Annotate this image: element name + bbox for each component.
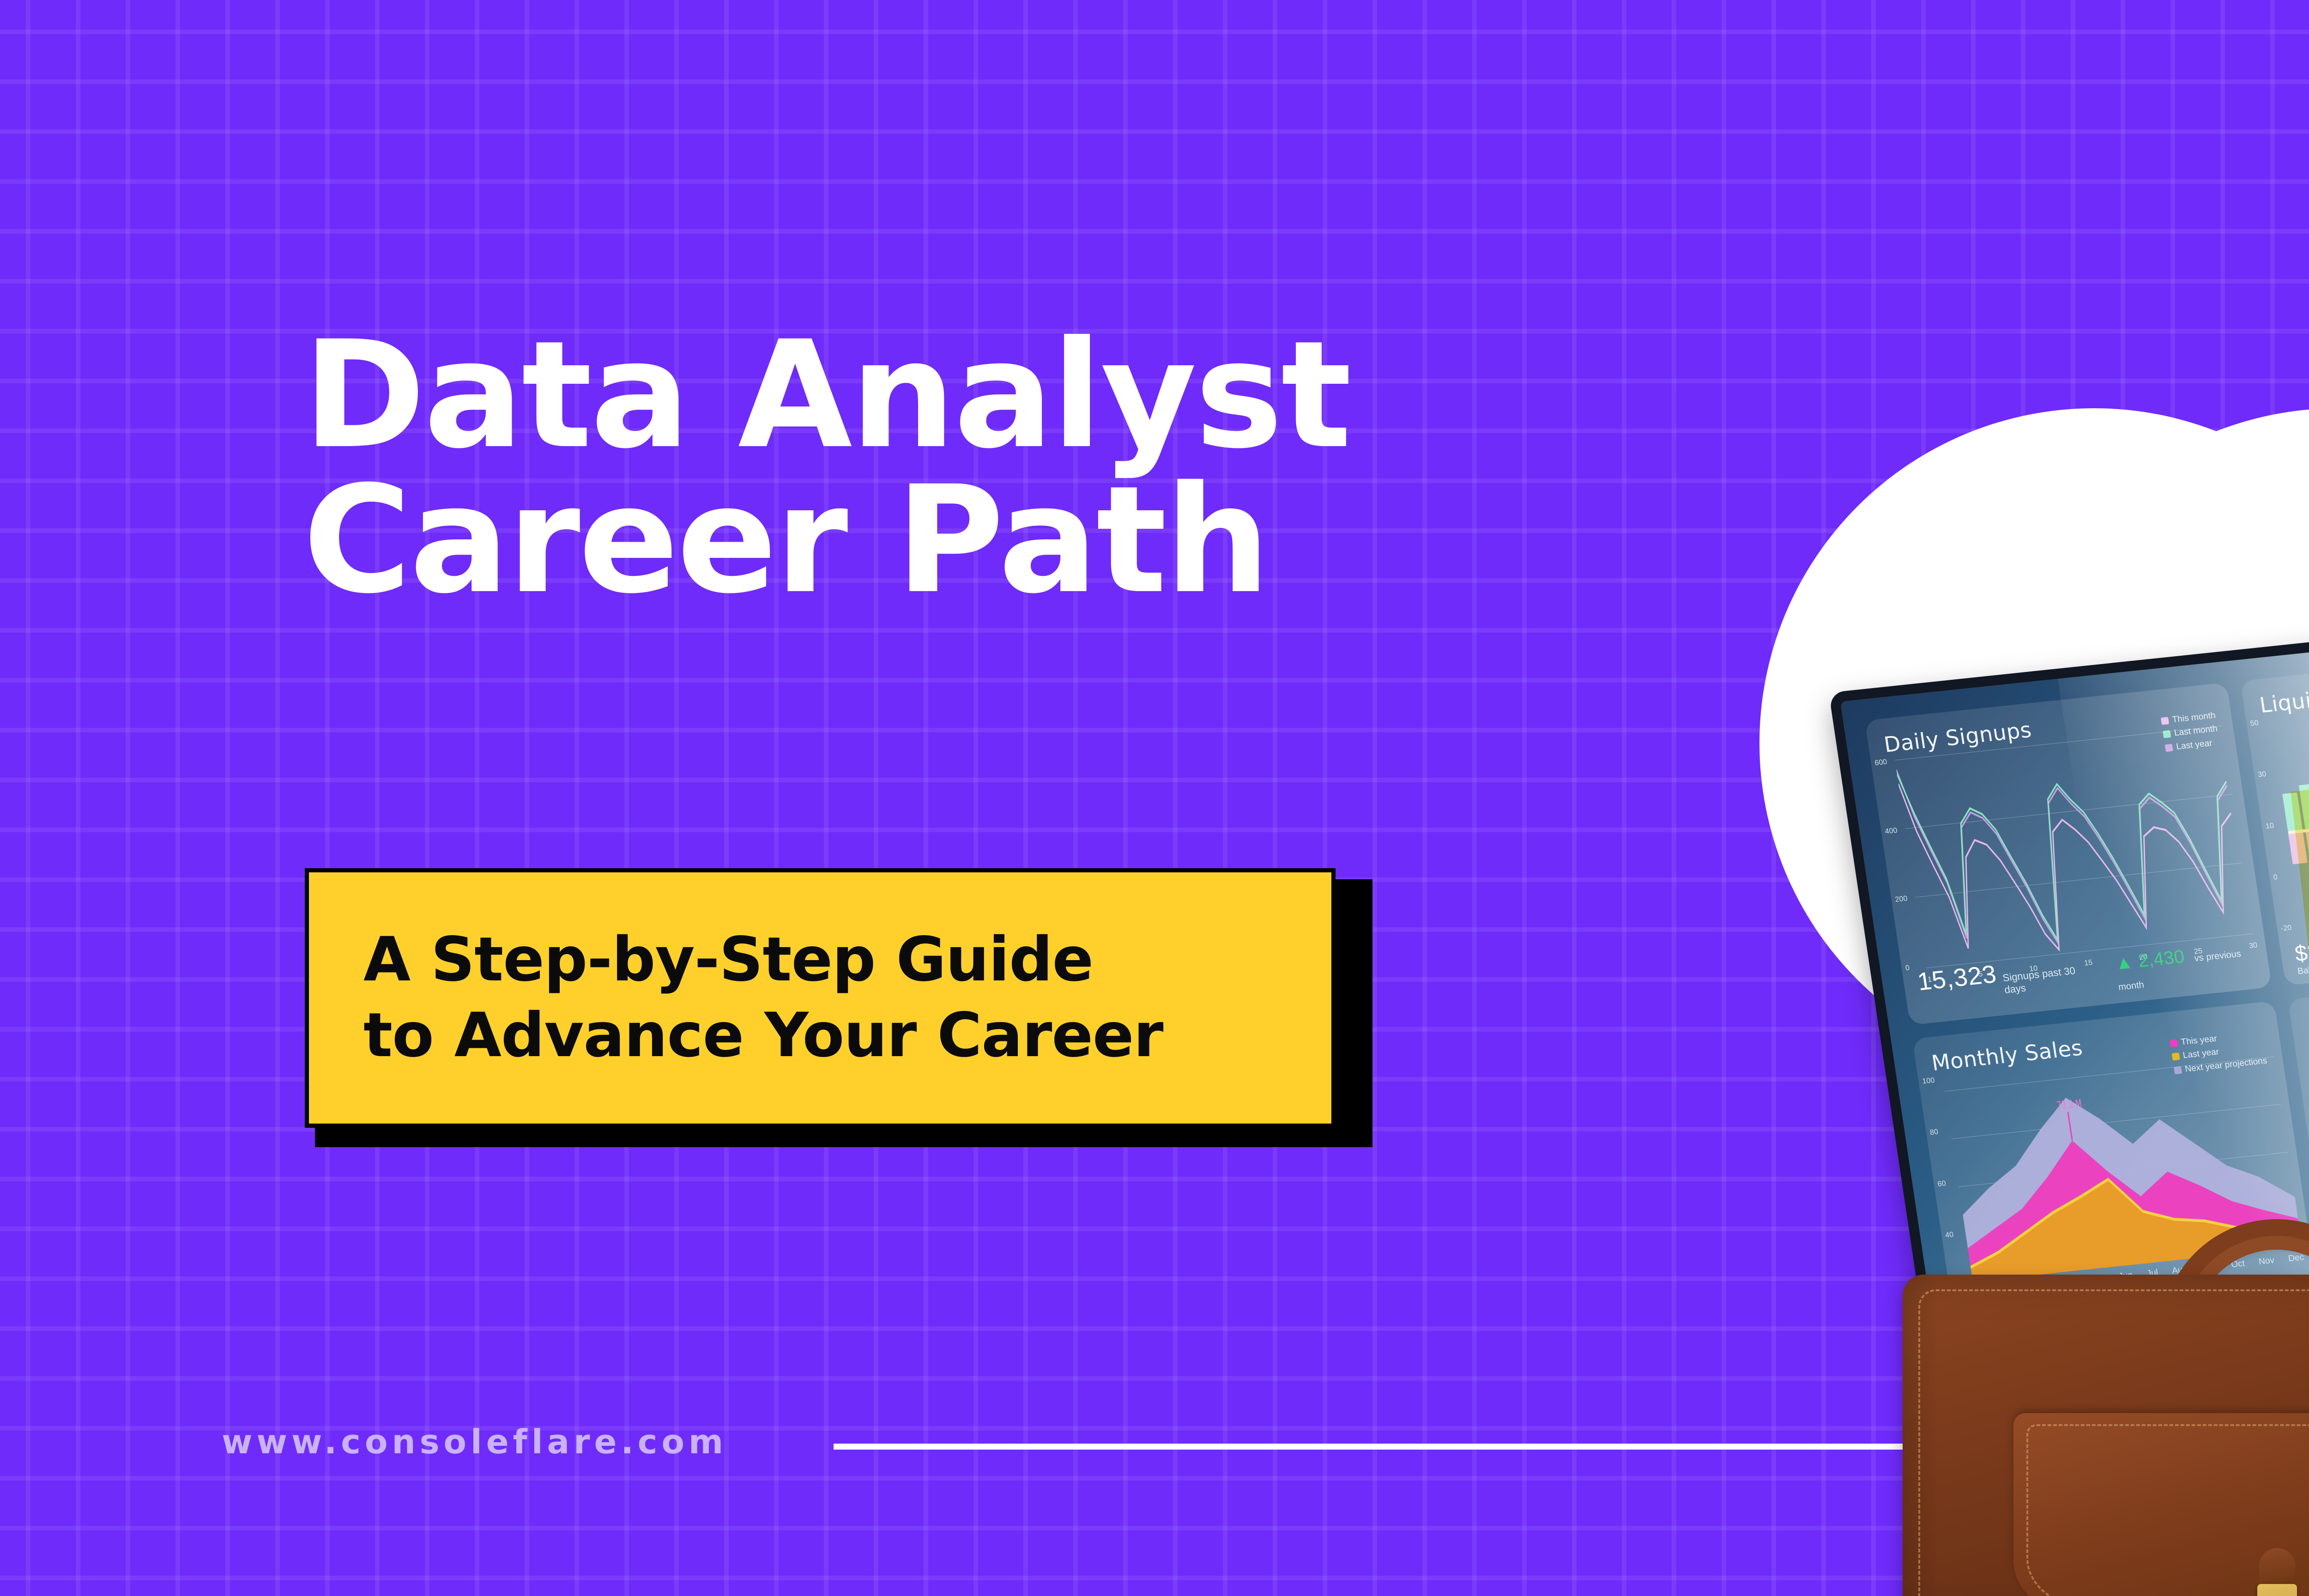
daily-signups-lines (1895, 725, 2254, 968)
legend-swatch (2170, 1039, 2178, 1047)
plot-daily-signups (1895, 725, 2254, 968)
y-tick: 400 (1885, 827, 1898, 836)
stat-value: $25.9M (2293, 934, 2309, 966)
y-tick: 600 (1874, 758, 1887, 768)
plaque-box: A Step-by-Step Guide to Advance Your Car… (305, 868, 1336, 1128)
briefcase-lock-clasp (2257, 1584, 2297, 1596)
kpi-delta-arrow-icon: ▲ (2113, 952, 2134, 974)
subtitle-plaque: A Step-by-Step Guide to Advance Your Car… (305, 868, 1367, 1145)
y-tick: -20 (2280, 924, 2292, 933)
page-title: Data Analyst Career Path (303, 323, 1965, 613)
svg-text:73.2 M: 73.2 M (2056, 1097, 2082, 1112)
y-tick: 200 (1895, 895, 1908, 905)
poster-canvas: console flare. Data Analyst Career Path … (0, 0, 2309, 1596)
kpi-delta: ▲ 2,430 vs previous month (2113, 938, 2271, 995)
y-tick: 0 (2273, 873, 2285, 882)
plaque-line-2: to Advance Your Career (363, 998, 1331, 1074)
y-tick: 80 (1929, 1128, 1943, 1137)
briefcase (1903, 1219, 2309, 1596)
kpi-delta-value: 2,430 (2137, 946, 2186, 971)
headline-line-2: Career Path (303, 468, 1965, 613)
y-tick: 10 (2265, 821, 2277, 830)
legend-swatch (2171, 1052, 2180, 1060)
footer-divider-line (834, 1444, 1914, 1450)
y-tick: 50 (2250, 719, 2262, 728)
website-url[interactable]: www.consoleflare.com (222, 1422, 727, 1461)
panel-title-liquidity: Liquidity (2258, 664, 2309, 718)
plaque-line-1: A Step-by-Step Guide (363, 922, 1331, 998)
panel-daily-signups: Daily Signups This month Last month Last… (1865, 683, 2272, 1025)
legend-swatch (2161, 717, 2169, 725)
y-tick: 100 (1922, 1076, 1935, 1086)
y-tick: 60 (1937, 1179, 1951, 1189)
y-tick: 30 (2257, 770, 2269, 779)
kpi-label: Signups past 30 days (2002, 962, 2101, 996)
